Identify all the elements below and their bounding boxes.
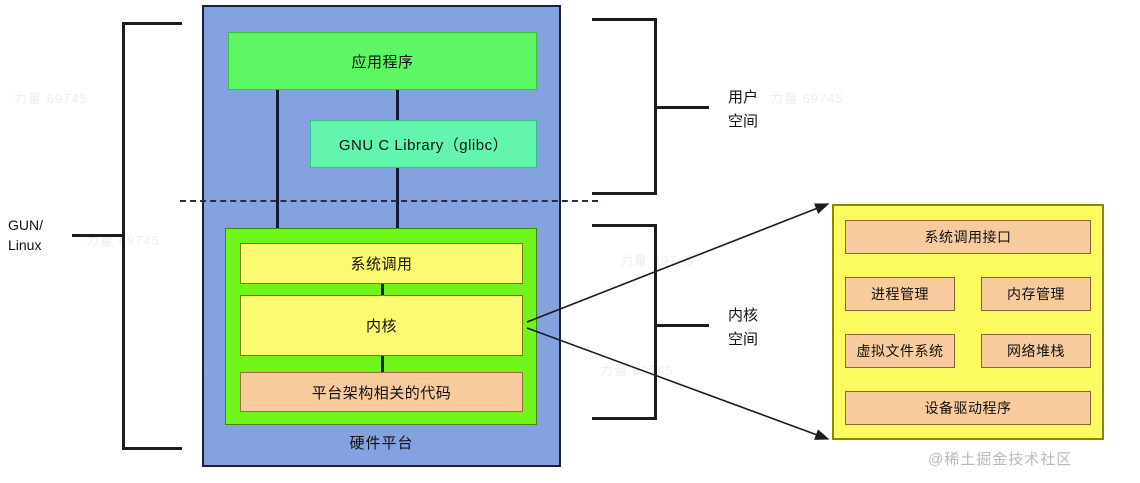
connector-app-to-kernel bbox=[276, 89, 279, 229]
kernel-detail-process-management[interactable]: 进程管理 bbox=[845, 277, 955, 311]
kernel-space-label-line2: 空间 bbox=[728, 328, 808, 352]
left-bracket-top bbox=[122, 22, 182, 25]
left-bracket-tick bbox=[72, 234, 124, 237]
kernel-space-bracket-vertical bbox=[654, 224, 657, 420]
user-space-label-line1: 用户 bbox=[728, 86, 808, 110]
gnu-linux-label-line1: GUN/ bbox=[8, 215, 72, 235]
kernel-space-label-line1: 内核 bbox=[728, 304, 808, 328]
gnu-linux-label: GUN/ Linux bbox=[8, 215, 72, 255]
user-space-bracket-bottom bbox=[592, 192, 657, 195]
hardware-platform-label: 硬件平台 bbox=[202, 432, 561, 453]
gnu-linux-label-line2: Linux bbox=[8, 235, 72, 255]
kernel-box[interactable]: 内核 bbox=[240, 295, 523, 356]
user-space-label-line2: 空间 bbox=[728, 110, 808, 134]
connector-kernel-to-arch bbox=[381, 356, 384, 373]
connector-glibc-to-syscall bbox=[396, 167, 399, 229]
brand-watermark: @稀土掘金技术社区 bbox=[928, 448, 1072, 469]
user-space-label: 用户 空间 bbox=[728, 86, 808, 134]
background-watermark: 力量 69745 bbox=[14, 88, 88, 107]
kernel-space-bracket-tick bbox=[654, 324, 709, 327]
kernel-detail-syscall-interface[interactable]: 系统调用接口 bbox=[845, 220, 1091, 254]
kernel-detail-network-stack[interactable]: 网络堆栈 bbox=[981, 334, 1091, 368]
diagram-canvas: 力量 69745 力量 69745 力量 69745 力量 69745 力量 6… bbox=[0, 0, 1140, 483]
user-space-bracket-top bbox=[592, 18, 657, 21]
connector-app-to-glibc bbox=[396, 89, 399, 121]
kernel-detail-device-drivers[interactable]: 设备驱动程序 bbox=[845, 391, 1091, 425]
arch-code-box[interactable]: 平台架构相关的代码 bbox=[240, 372, 523, 412]
glibc-box[interactable]: GNU C Library（glibc） bbox=[310, 120, 537, 168]
user-space-bracket-tick bbox=[654, 106, 709, 109]
kernel-space-bracket-top bbox=[592, 224, 657, 227]
kernel-detail-memory-management[interactable]: 内存管理 bbox=[981, 277, 1091, 311]
kernel-detail-virtual-file-system[interactable]: 虚拟文件系统 bbox=[845, 334, 955, 368]
syscall-box[interactable]: 系统调用 bbox=[240, 243, 523, 284]
app-program-box[interactable]: 应用程序 bbox=[228, 32, 537, 90]
user-kernel-divider bbox=[180, 200, 598, 202]
kernel-space-bracket-bottom bbox=[592, 417, 657, 420]
kernel-space-label: 内核 空间 bbox=[728, 304, 808, 352]
left-bracket-bottom bbox=[122, 447, 182, 450]
background-watermark: 力量 69745 bbox=[600, 360, 674, 379]
